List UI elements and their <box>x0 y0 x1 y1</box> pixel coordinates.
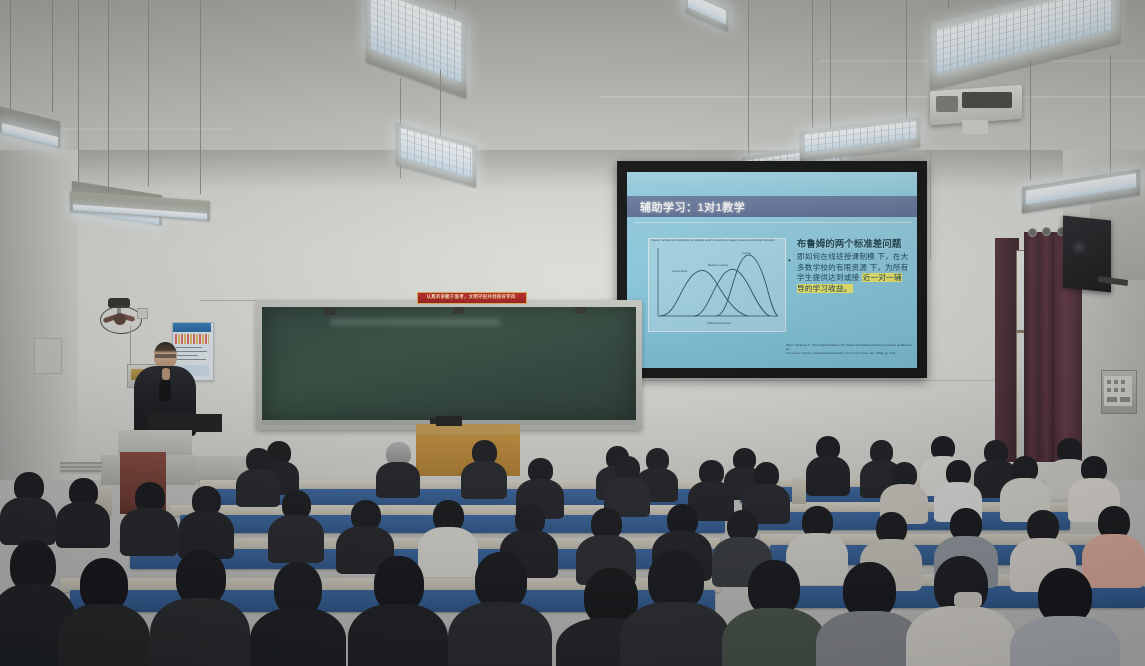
wall-upper-shadow <box>0 150 1145 190</box>
slide-title-underline <box>634 222 912 223</box>
audience-member <box>604 456 650 514</box>
wall-plate <box>34 338 62 374</box>
projector-lens <box>936 96 958 112</box>
svg-text:Tutorial: Tutorial <box>742 251 751 255</box>
audience-member <box>722 560 826 666</box>
chalk-smudge <box>330 318 500 326</box>
face-mask <box>954 592 982 608</box>
slide-top-band <box>627 172 917 196</box>
audience-member <box>448 552 552 666</box>
light-rod <box>148 0 149 186</box>
control-button[interactable] <box>1114 380 1118 384</box>
projector-vent <box>962 92 1012 108</box>
slide-chart-xlabel: Achievement Scores <box>660 322 778 325</box>
curtain-ring <box>1028 228 1037 237</box>
bloom-two-sigma-chart: Conventional Mastery Learning Tutorial <box>650 246 782 326</box>
light-rod <box>1110 55 1111 173</box>
control-button[interactable] <box>1107 397 1117 402</box>
light-rod <box>906 0 907 118</box>
svg-text:Mastery Learning: Mastery Learning <box>708 263 729 267</box>
lectern-top <box>416 424 520 434</box>
slide-bullet-text: 即如何在线班授课制模 下，在大多数学校的有限资源 下，为所有学生提供达到或接 近… <box>797 252 909 294</box>
classroom-banner-text: 认真听讲勤于思考，文明守纪共创良好学风 <box>419 293 523 301</box>
audience-member <box>348 556 448 666</box>
audience-member <box>461 440 507 494</box>
audience-member <box>250 562 346 666</box>
audience-member <box>620 550 730 666</box>
audience-member <box>268 490 324 560</box>
svg-text:Conventional: Conventional <box>672 269 688 273</box>
audience-member <box>150 550 250 666</box>
wall-socket <box>137 308 148 319</box>
wall-fan <box>100 306 140 332</box>
control-button[interactable] <box>1120 397 1130 402</box>
slide-bullet-marker: • <box>788 256 791 265</box>
window-curtain-mid <box>1024 232 1054 462</box>
curtain-ring <box>1042 227 1051 236</box>
light-rod <box>812 0 813 128</box>
speaker-driver <box>1072 240 1086 254</box>
presenter-glasses <box>155 354 176 358</box>
left-wall <box>0 150 78 480</box>
control-button[interactable] <box>1107 380 1111 384</box>
wall-vent <box>60 462 102 474</box>
light-rod <box>948 0 949 8</box>
audience-member <box>906 556 1016 666</box>
audience-member <box>376 442 420 494</box>
light-rod <box>10 0 11 118</box>
audience-member <box>806 436 850 494</box>
light-rod <box>78 0 79 190</box>
lecture-hall-photo: 辅助学习：1对1教学 Figure 1. Achievement distrib… <box>0 0 1145 666</box>
light-rod <box>748 0 749 160</box>
audience-member <box>0 472 56 542</box>
light-rod <box>200 0 201 194</box>
audience-member <box>120 482 178 554</box>
lectern-equipment <box>436 416 462 426</box>
light-rod <box>108 0 109 198</box>
wall-joint-line-2 <box>648 380 998 381</box>
control-button[interactable] <box>1114 388 1118 392</box>
audience-member <box>1010 568 1120 666</box>
slide-bullet-line-1: 即如何在线班授课制模 <box>797 252 875 261</box>
audience-member <box>56 478 110 546</box>
control-button[interactable] <box>1107 388 1111 392</box>
light-rod <box>455 0 456 10</box>
blackboard-clip <box>453 307 464 314</box>
audience-member <box>1000 456 1050 518</box>
slide-chart-caption: Figure 1. Achievement distribution for s… <box>651 239 781 245</box>
audience-member <box>58 558 150 666</box>
blackboard-clip <box>324 308 335 315</box>
control-button[interactable] <box>1121 380 1125 384</box>
control-button[interactable] <box>1121 388 1125 392</box>
fan-pull-cord <box>130 326 131 368</box>
slide-citation-line-1: Bloom, Benjamin S. "The 2 Sigma Problem:… <box>786 343 912 351</box>
bench-end-panel <box>792 478 806 504</box>
projector-mount <box>962 120 988 134</box>
slide-citation: Bloom, Benjamin S. "The 2 Sigma Problem:… <box>786 343 912 355</box>
blackboard-clip <box>575 307 586 314</box>
light-rod <box>1030 60 1031 180</box>
slide-heading: 布鲁姆的两个标准差问题 <box>786 236 912 250</box>
ceiling-seam-2 <box>600 96 1145 98</box>
audience-member <box>178 486 234 556</box>
light-rod <box>52 0 53 112</box>
slide-title: 辅助学习：1对1教学 <box>640 199 810 215</box>
poster-header <box>173 323 211 332</box>
wall-corner <box>930 150 931 260</box>
slide-citation-line-2: One-to-One Tutoring." Educational Resear… <box>786 351 912 355</box>
